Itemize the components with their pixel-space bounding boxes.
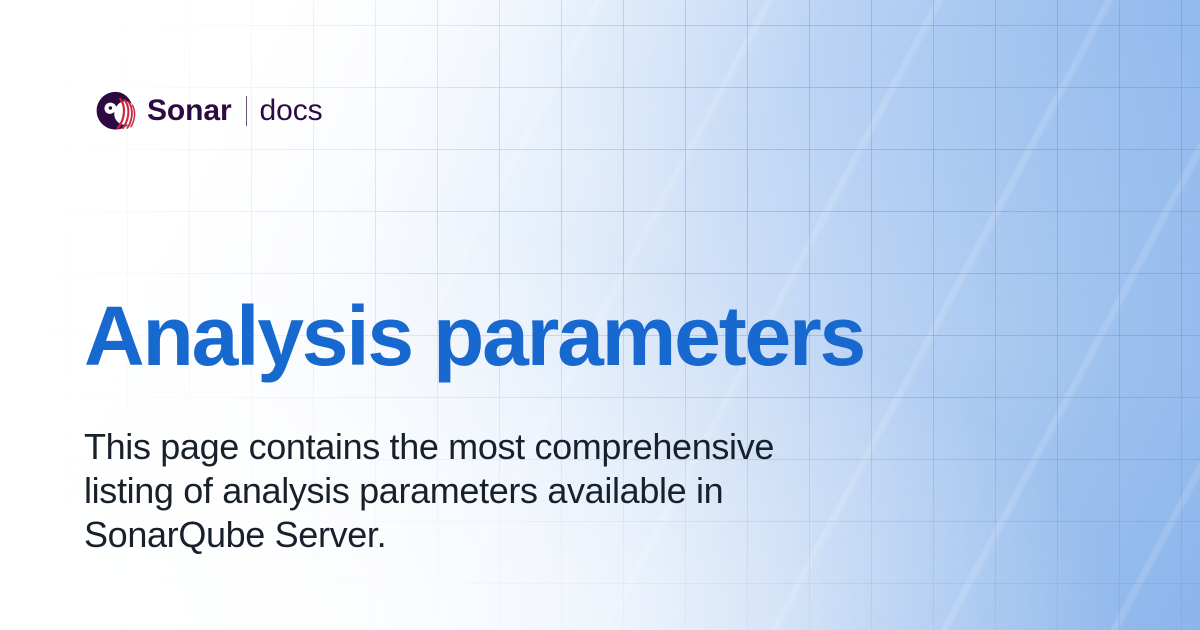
sonar-logo-icon [95, 91, 136, 132]
logo-divider [246, 96, 247, 126]
sonar-docs-logo-lockup[interactable]: Sonar docs [95, 88, 323, 134]
docs-label: docs [260, 96, 323, 126]
page-title: Analysis parameters [84, 294, 864, 378]
docs-banner-card: Sonar docs Analysis parameters This page… [0, 0, 1200, 630]
page-subtitle: This page contains the most comprehensiv… [84, 425, 874, 557]
page-subtitle-line: SonarQube Server. [84, 513, 874, 557]
banner-content: Sonar docs Analysis parameters This page… [0, 0, 1200, 630]
page-subtitle-line: listing of analysis parameters available… [84, 469, 874, 513]
page-subtitle-line: This page contains the most comprehensiv… [84, 425, 874, 469]
sonar-wordmark: Sonar [147, 96, 232, 126]
